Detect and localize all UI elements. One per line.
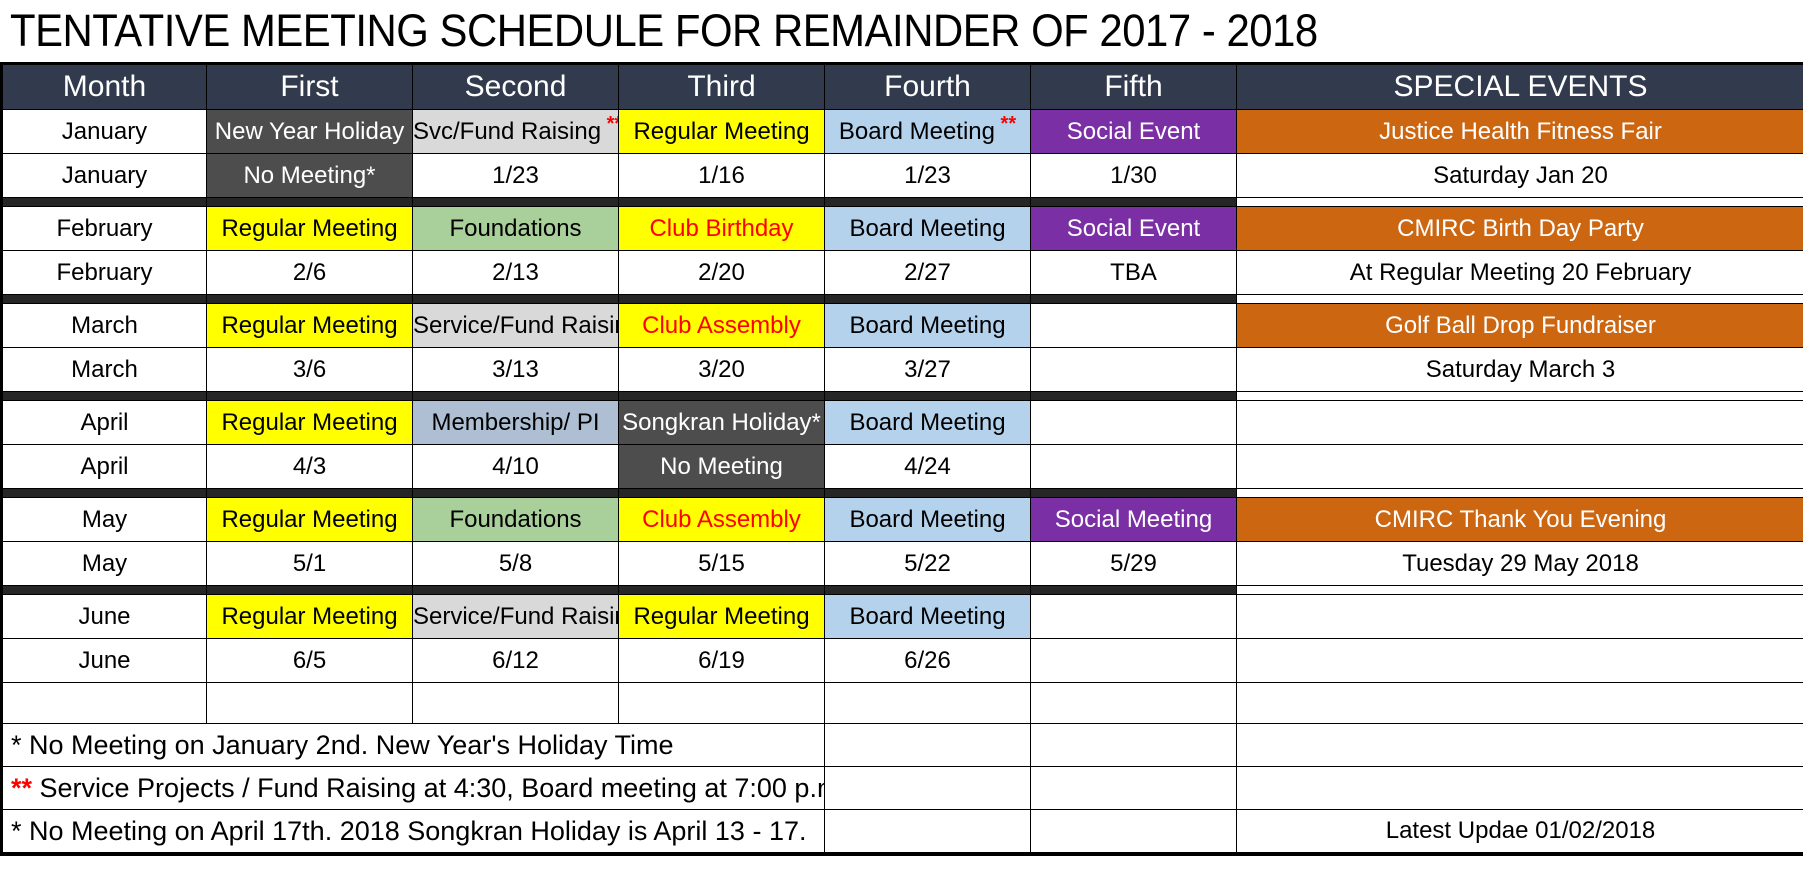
date-cell-march-first: 3/6	[207, 348, 413, 392]
month-label-february: February	[2, 207, 207, 251]
month-separator-cell	[619, 295, 825, 304]
footnote-row-1: * No Meeting on January 2nd. New Year's …	[2, 724, 1803, 767]
month-separator-cell	[1237, 586, 1803, 595]
month-separator-cell	[1031, 586, 1237, 595]
event-cell-may-second: Foundations	[413, 498, 619, 542]
event-cell-january-special-events: Justice Health Fitness Fair	[1237, 110, 1803, 154]
month-date-row-january: JanuaryNo Meeting*1/231/161/231/30Saturd…	[2, 154, 1803, 198]
event-cell-february-fourth: Board Meeting	[825, 207, 1031, 251]
month-separator-cell	[825, 392, 1031, 401]
month-separator-cell	[1237, 198, 1803, 207]
event-cell-june-first: Regular Meeting	[207, 595, 413, 639]
month-separator-cell	[619, 392, 825, 401]
date-cell-february-third: 2/20	[619, 251, 825, 295]
month-separator-cell	[207, 489, 413, 498]
event-cell-may-third: Club Assembly	[619, 498, 825, 542]
event-cell-january-second: Svc/Fund Raising **	[413, 110, 619, 154]
month-event-row-january: JanuaryNew Year HolidaySvc/Fund Raising …	[2, 110, 1803, 154]
spacer-cell	[619, 683, 825, 724]
footnote-blank-cell	[1237, 767, 1803, 810]
footnote-body: No Meeting on April 17th. 2018 Songkran …	[22, 816, 807, 846]
footnote-text-1: * No Meeting on January 2nd. New Year's …	[2, 724, 825, 767]
date-cell-june-special-events	[1237, 639, 1803, 683]
month-separator-cell	[207, 198, 413, 207]
date-cell-january-fourth: 1/23	[825, 154, 1031, 198]
footnote-blank-cell	[1237, 724, 1803, 767]
month-label-april: April	[2, 401, 207, 445]
table-header-row: Month First Second Third Fourth Fifth SP…	[2, 64, 1803, 110]
date-cell-may-second: 5/8	[413, 542, 619, 586]
footnote-text-3: * No Meeting on April 17th. 2018 Songkra…	[2, 810, 825, 855]
date-cell-january-second: 1/23	[413, 154, 619, 198]
date-cell-january-third: 1/16	[619, 154, 825, 198]
month-label-dates-june: June	[2, 639, 207, 683]
event-cell-january-fifth: Social Event	[1031, 110, 1237, 154]
event-cell-march-special-events: Golf Ball Drop Fundraiser	[1237, 304, 1803, 348]
month-separator-cell	[2, 586, 207, 595]
event-cell-may-first: Regular Meeting	[207, 498, 413, 542]
event-cell-february-first: Regular Meeting	[207, 207, 413, 251]
event-cell-june-third: Regular Meeting	[619, 595, 825, 639]
month-separator-cell	[1031, 295, 1237, 304]
month-date-row-march: March3/63/133/203/27Saturday March 3	[2, 348, 1803, 392]
meeting-schedule-table: Month First Second Third Fourth Fifth SP…	[0, 62, 1803, 856]
month-separator	[2, 489, 1803, 498]
month-separator-cell	[619, 489, 825, 498]
month-separator-cell	[2, 392, 207, 401]
event-cell-january-first: New Year Holiday	[207, 110, 413, 154]
month-label-may: May	[2, 498, 207, 542]
month-separator-cell	[825, 489, 1031, 498]
column-header-month: Month	[2, 64, 207, 110]
column-header-special-events: SPECIAL EVENTS	[1237, 64, 1803, 110]
event-cell-june-fifth	[1031, 595, 1237, 639]
month-event-row-april: AprilRegular MeetingMembership/ PISongkr…	[2, 401, 1803, 445]
footnote-blank-cell	[1031, 810, 1237, 855]
footnote-blank-cell	[825, 810, 1031, 855]
date-cell-march-fifth	[1031, 348, 1237, 392]
event-cell-march-fourth: Board Meeting	[825, 304, 1031, 348]
month-separator-cell	[207, 586, 413, 595]
footnote-marker: *	[11, 816, 22, 846]
spacer-cell	[2, 683, 207, 724]
date-cell-april-special-events	[1237, 445, 1803, 489]
date-cell-april-first: 4/3	[207, 445, 413, 489]
month-separator-cell	[1237, 295, 1803, 304]
date-cell-january-first: No Meeting*	[207, 154, 413, 198]
latest-update-note: Latest Updae 01/02/2018	[1237, 810, 1803, 855]
event-cell-april-first: Regular Meeting	[207, 401, 413, 445]
page-title-row: TENTATIVE MEETING SCHEDULE FOR REMAINDER…	[0, 0, 1803, 62]
event-cell-april-fourth: Board Meeting	[825, 401, 1031, 445]
footnote-asterisk: **	[995, 113, 1016, 135]
footnote-blank-cell	[1031, 767, 1237, 810]
month-label-dates-march: March	[2, 348, 207, 392]
month-separator-cell	[825, 295, 1031, 304]
month-separator-cell	[1237, 392, 1803, 401]
schedule-sheet: TENTATIVE MEETING SCHEDULE FOR REMAINDER…	[0, 0, 1803, 894]
month-label-january: January	[2, 110, 207, 154]
event-cell-june-fourth: Board Meeting	[825, 595, 1031, 639]
event-cell-april-third: Songkran Holiday*	[619, 401, 825, 445]
month-event-row-may: MayRegular MeetingFoundationsClub Assemb…	[2, 498, 1803, 542]
spacer-cell	[825, 683, 1031, 724]
month-separator-cell	[619, 586, 825, 595]
month-date-row-june: June6/56/126/196/26	[2, 639, 1803, 683]
footnote-body: Service Projects / Fund Raising at 4:30,…	[32, 773, 824, 803]
date-cell-june-fourth: 6/26	[825, 639, 1031, 683]
event-cell-february-second: Foundations	[413, 207, 619, 251]
event-cell-february-third: Club Birthday	[619, 207, 825, 251]
date-cell-february-special-events: At Regular Meeting 20 February	[1237, 251, 1803, 295]
month-separator-cell	[1031, 489, 1237, 498]
date-cell-february-fifth: TBA	[1031, 251, 1237, 295]
month-separator-cell	[413, 489, 619, 498]
column-header-fifth: Fifth	[1031, 64, 1237, 110]
date-cell-may-special-events: Tuesday 29 May 2018	[1237, 542, 1803, 586]
date-cell-march-second: 3/13	[413, 348, 619, 392]
month-event-row-june: JuneRegular MeetingService/Fund RaisingR…	[2, 595, 1803, 639]
event-cell-june-special-events	[1237, 595, 1803, 639]
event-cell-january-third: Regular Meeting	[619, 110, 825, 154]
month-label-june: June	[2, 595, 207, 639]
footnote-blank-cell	[825, 724, 1031, 767]
event-cell-may-fifth: Social Meeting	[1031, 498, 1237, 542]
footnote-marker: **	[11, 773, 32, 803]
month-date-row-february: February2/62/132/202/27TBAAt Regular Mee…	[2, 251, 1803, 295]
footnote-row-2: ** Service Projects / Fund Raising at 4:…	[2, 767, 1803, 810]
event-cell-march-third: Club Assembly	[619, 304, 825, 348]
month-event-row-march: MarchRegular MeetingService/Fund Raising…	[2, 304, 1803, 348]
event-cell-march-fifth	[1031, 304, 1237, 348]
event-cell-may-special-events: CMIRC Thank You Evening	[1237, 498, 1803, 542]
month-separator-cell	[2, 198, 207, 207]
month-separator-cell	[1031, 392, 1237, 401]
month-date-row-may: May5/15/85/155/225/29Tuesday 29 May 2018	[2, 542, 1803, 586]
month-separator-cell	[413, 198, 619, 207]
column-header-first: First	[207, 64, 413, 110]
date-cell-june-first: 6/5	[207, 639, 413, 683]
date-cell-may-first: 5/1	[207, 542, 413, 586]
spacer-row	[2, 683, 1803, 724]
date-cell-march-fourth: 3/27	[825, 348, 1031, 392]
page-title: TENTATIVE MEETING SCHEDULE FOR REMAINDER…	[10, 5, 1318, 57]
table-body: JanuaryNew Year HolidaySvc/Fund Raising …	[2, 110, 1803, 855]
date-cell-may-fourth: 5/22	[825, 542, 1031, 586]
month-separator	[2, 392, 1803, 401]
date-cell-april-fifth	[1031, 445, 1237, 489]
month-separator-cell	[825, 198, 1031, 207]
date-cell-april-third: No Meeting	[619, 445, 825, 489]
month-separator-cell	[619, 198, 825, 207]
event-cell-february-fifth: Social Event	[1031, 207, 1237, 251]
event-cell-march-first: Regular Meeting	[207, 304, 413, 348]
date-cell-june-second: 6/12	[413, 639, 619, 683]
month-event-row-february: FebruaryRegular MeetingFoundationsClub B…	[2, 207, 1803, 251]
footnote-marker: *	[11, 730, 22, 760]
date-cell-february-fourth: 2/27	[825, 251, 1031, 295]
event-cell-june-second: Service/Fund Raising	[413, 595, 619, 639]
month-separator-cell	[2, 489, 207, 498]
date-cell-march-special-events: Saturday March 3	[1237, 348, 1803, 392]
event-cell-april-fifth	[1031, 401, 1237, 445]
month-label-dates-may: May	[2, 542, 207, 586]
month-separator-cell	[413, 295, 619, 304]
column-header-third: Third	[619, 64, 825, 110]
month-label-march: March	[2, 304, 207, 348]
month-separator	[2, 198, 1803, 207]
date-cell-may-third: 5/15	[619, 542, 825, 586]
month-separator-cell	[207, 392, 413, 401]
month-separator	[2, 586, 1803, 595]
date-cell-may-fifth: 5/29	[1031, 542, 1237, 586]
footnote-body: No Meeting on January 2nd. New Year's Ho…	[22, 730, 674, 760]
date-cell-june-third: 6/19	[619, 639, 825, 683]
footnote-blank-cell	[825, 767, 1031, 810]
month-label-dates-february: February	[2, 251, 207, 295]
footnote-asterisk: **	[601, 113, 618, 135]
month-separator-cell	[413, 392, 619, 401]
footnote-text-2: ** Service Projects / Fund Raising at 4:…	[2, 767, 825, 810]
month-separator-cell	[825, 586, 1031, 595]
footnote-row-3: * No Meeting on April 17th. 2018 Songkra…	[2, 810, 1803, 855]
footnote-blank-cell	[1031, 724, 1237, 767]
event-cell-april-second: Membership/ PI	[413, 401, 619, 445]
column-header-second: Second	[413, 64, 619, 110]
spacer-cell	[413, 683, 619, 724]
date-cell-april-fourth: 4/24	[825, 445, 1031, 489]
event-cell-january-fourth: Board Meeting **	[825, 110, 1031, 154]
month-separator-cell	[2, 295, 207, 304]
date-cell-june-fifth	[1031, 639, 1237, 683]
date-cell-february-first: 2/6	[207, 251, 413, 295]
spacer-cell	[207, 683, 413, 724]
month-label-dates-april: April	[2, 445, 207, 489]
date-cell-january-fifth: 1/30	[1031, 154, 1237, 198]
date-cell-march-third: 3/20	[619, 348, 825, 392]
spacer-cell	[1237, 683, 1803, 724]
spacer-cell	[1031, 683, 1237, 724]
month-label-dates-january: January	[2, 154, 207, 198]
month-separator-cell	[1237, 489, 1803, 498]
event-cell-may-fourth: Board Meeting	[825, 498, 1031, 542]
month-date-row-april: April4/34/10No Meeting4/24	[2, 445, 1803, 489]
month-separator	[2, 295, 1803, 304]
month-separator-cell	[413, 586, 619, 595]
column-header-fourth: Fourth	[825, 64, 1031, 110]
event-cell-march-second: Service/Fund Raising	[413, 304, 619, 348]
date-cell-february-second: 2/13	[413, 251, 619, 295]
event-cell-february-special-events: CMIRC Birth Day Party	[1237, 207, 1803, 251]
month-separator-cell	[1031, 198, 1237, 207]
month-separator-cell	[207, 295, 413, 304]
event-cell-april-special-events	[1237, 401, 1803, 445]
date-cell-january-special-events: Saturday Jan 20	[1237, 154, 1803, 198]
date-cell-april-second: 4/10	[413, 445, 619, 489]
